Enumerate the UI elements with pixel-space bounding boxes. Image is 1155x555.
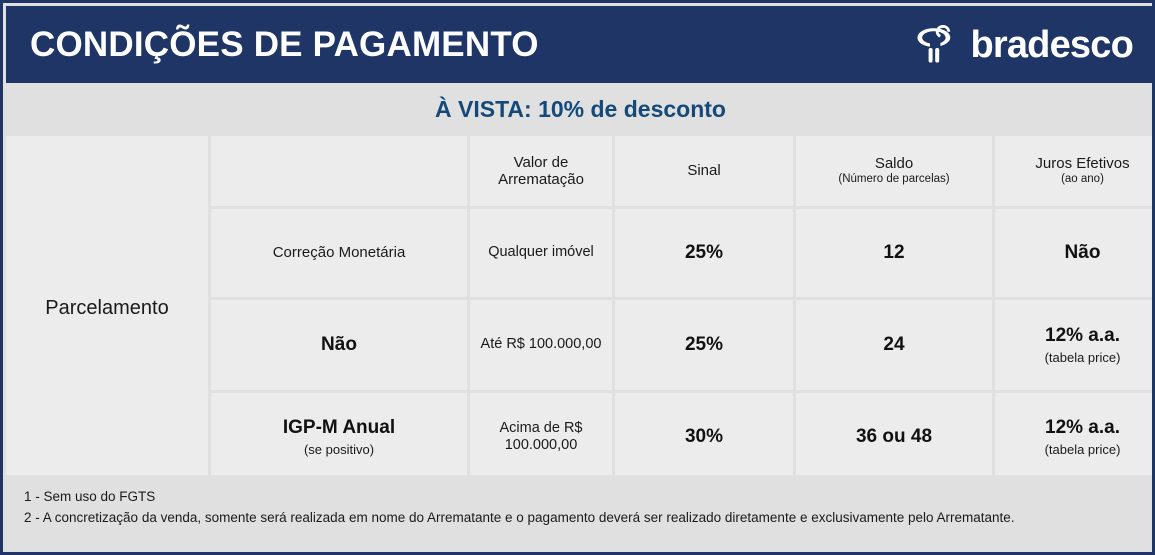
table-row: 24 [796,300,992,390]
table-row: Não [995,209,1155,297]
table-row: 25% [615,209,793,297]
footnote-2: 2 - A concretização da venda, somente se… [24,508,1155,529]
header-band: CONDIÇÕES DE PAGAMENTO bradesco [6,6,1155,83]
table-row: Não [211,300,467,390]
table-row: 12 [796,209,992,297]
column-header-juros: Juros Efetivos (ao ano) [995,136,1155,206]
table-row: Qualquer imóvel [470,209,612,297]
table-corner-cell [211,136,467,206]
table-row: 36 ou 48 [796,393,992,481]
footnote-1: 1 - Sem uso do FGTS [24,487,1155,508]
brand-logo: bradesco [912,22,1133,68]
table-row: Até R$ 100.000,00 [470,300,612,390]
column-header-sinal: Sinal [615,136,793,206]
conditions-table: Valor de Arrematação Sinal Saldo (Número… [6,136,1155,472]
payment-conditions-sheet: CONDIÇÕES DE PAGAMENTO bradesco À VISTA:… [0,0,1155,555]
column-header-saldo: Saldo (Número de parcelas) [796,136,992,206]
page-title: CONDIÇÕES DE PAGAMENTO [30,27,539,62]
discount-text: À VISTA: 10% de desconto [435,98,726,121]
row-group-label-parcelamento: Parcelamento [6,136,208,481]
table-row: 12% a.a. (tabela price) [995,300,1155,390]
column-header-correcao: Correção Monetária [211,209,467,297]
table-row: 12% a.a. (tabela price) [995,393,1155,481]
footnotes-section: 1 - Sem uso do FGTS 2 - A concretização … [6,475,1155,555]
table-row: 25% [615,300,793,390]
discount-banner: À VISTA: 10% de desconto [6,85,1155,133]
brand-wordmark: bradesco [970,26,1133,64]
table-row: IGP-M Anual (se positivo) [211,393,467,481]
table-row: Acima de R$ 100.000,00 [470,393,612,481]
bradesco-tree-logo-icon [912,22,964,68]
column-header-valor: Valor de Arrematação [470,136,612,206]
table-row: 30% [615,393,793,481]
